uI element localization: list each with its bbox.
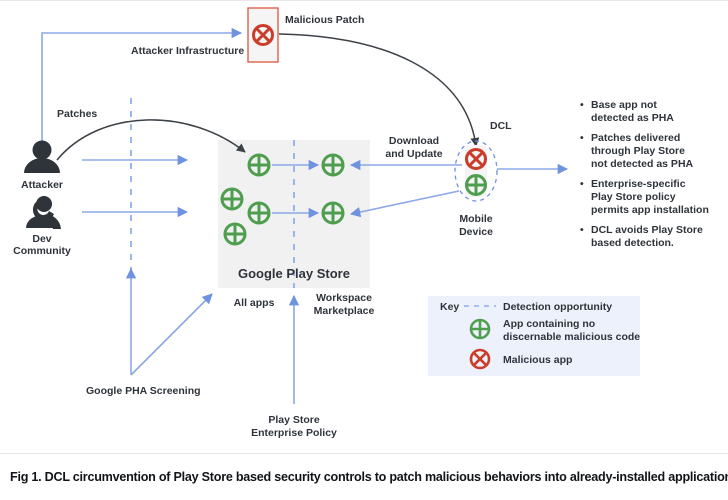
dev-community-label-line2: Community [13,245,71,257]
benign-app-icon-device [467,176,486,195]
dcl-label: DCL [490,120,512,132]
bullet-2-line-2: through Play Store [591,145,685,157]
benign-app-icon-workspace-1 [323,155,343,175]
download-update-label-line2: and Update [385,148,442,160]
download-update-label-line1: Download [389,135,439,147]
edge-pha-screening-diagonal [131,294,212,375]
edge-patches-curve [57,120,245,160]
benign-app-icon-store-3 [249,203,269,223]
bullet-1-line-1: Base app not [591,99,657,111]
patches-label: Patches [57,108,97,120]
attacker-infrastructure-label: Attacker Infrastructure [131,45,244,57]
bullet-2-line-1: Patches delivered [591,132,680,144]
bullet-1-line-2: detected as PHA [591,112,674,124]
bullet-marker: • [580,224,584,236]
play-store-label: Google Play Store [238,266,350,281]
outcomes-list: • Base app not detected as PHA • Patches… [580,99,709,249]
all-apps-label: All apps [234,297,275,309]
edge-dcl-curve [279,34,476,146]
key-benign-app-icon [471,320,489,338]
workspace-marketplace-label-line2: Marketplace [314,305,375,317]
dcl-flow-diagram: Attacker Dev Community Malicious Patch A… [0,0,728,500]
attacker-icon [24,141,60,174]
bullet-4-line-1: DCL avoids Play Store [591,224,703,236]
dev-community-icon [26,196,61,229]
mobile-device-label-line1: Mobile [459,213,492,225]
key-item-benign-label-line1: App containing no [503,318,595,330]
key-title: Key [440,301,459,313]
key-item-detection-label: Detection opportunity [503,301,612,313]
mobile-device-label-line2: Device [459,226,493,238]
enterprise-policy-label-line1: Play Store [268,414,320,426]
figure-root: Attacker Dev Community Malicious Patch A… [0,0,728,500]
bullet-3-line-2: Play Store policy [591,191,676,203]
bullet-4-line-2: based detection. [591,237,674,249]
attacker-label: Attacker [21,179,63,191]
bullet-marker: • [580,178,584,190]
benign-app-icon-store-1 [249,155,269,175]
malicious-patch-label: Malicious Patch [285,14,364,26]
key-item-benign-label-line2: discernable malicious code [503,331,640,343]
bottom-divider [0,453,728,454]
dev-community-label-line1: Dev [32,233,51,245]
bullet-marker: • [580,99,584,111]
bullet-3-line-3: permits app installation [591,204,709,216]
workspace-marketplace-label-line1: Workspace [316,292,372,304]
enterprise-policy-label-line2: Enterprise Policy [251,427,337,439]
key-item-malicious-label: Malicious app [503,354,572,366]
figure-caption: Fig 1. DCL circumvention of Play Store b… [10,470,720,484]
bullet-marker: • [580,132,584,144]
benign-app-icon-store-4 [225,224,245,244]
google-pha-screening-label: Google PHA Screening [86,385,201,397]
benign-app-icon-store-2 [222,189,242,209]
bullet-3-line-1: Enterprise-specific [591,178,686,190]
benign-app-icon-workspace-2 [323,203,343,223]
bullet-2-line-3: not detected as PHA [591,158,694,170]
